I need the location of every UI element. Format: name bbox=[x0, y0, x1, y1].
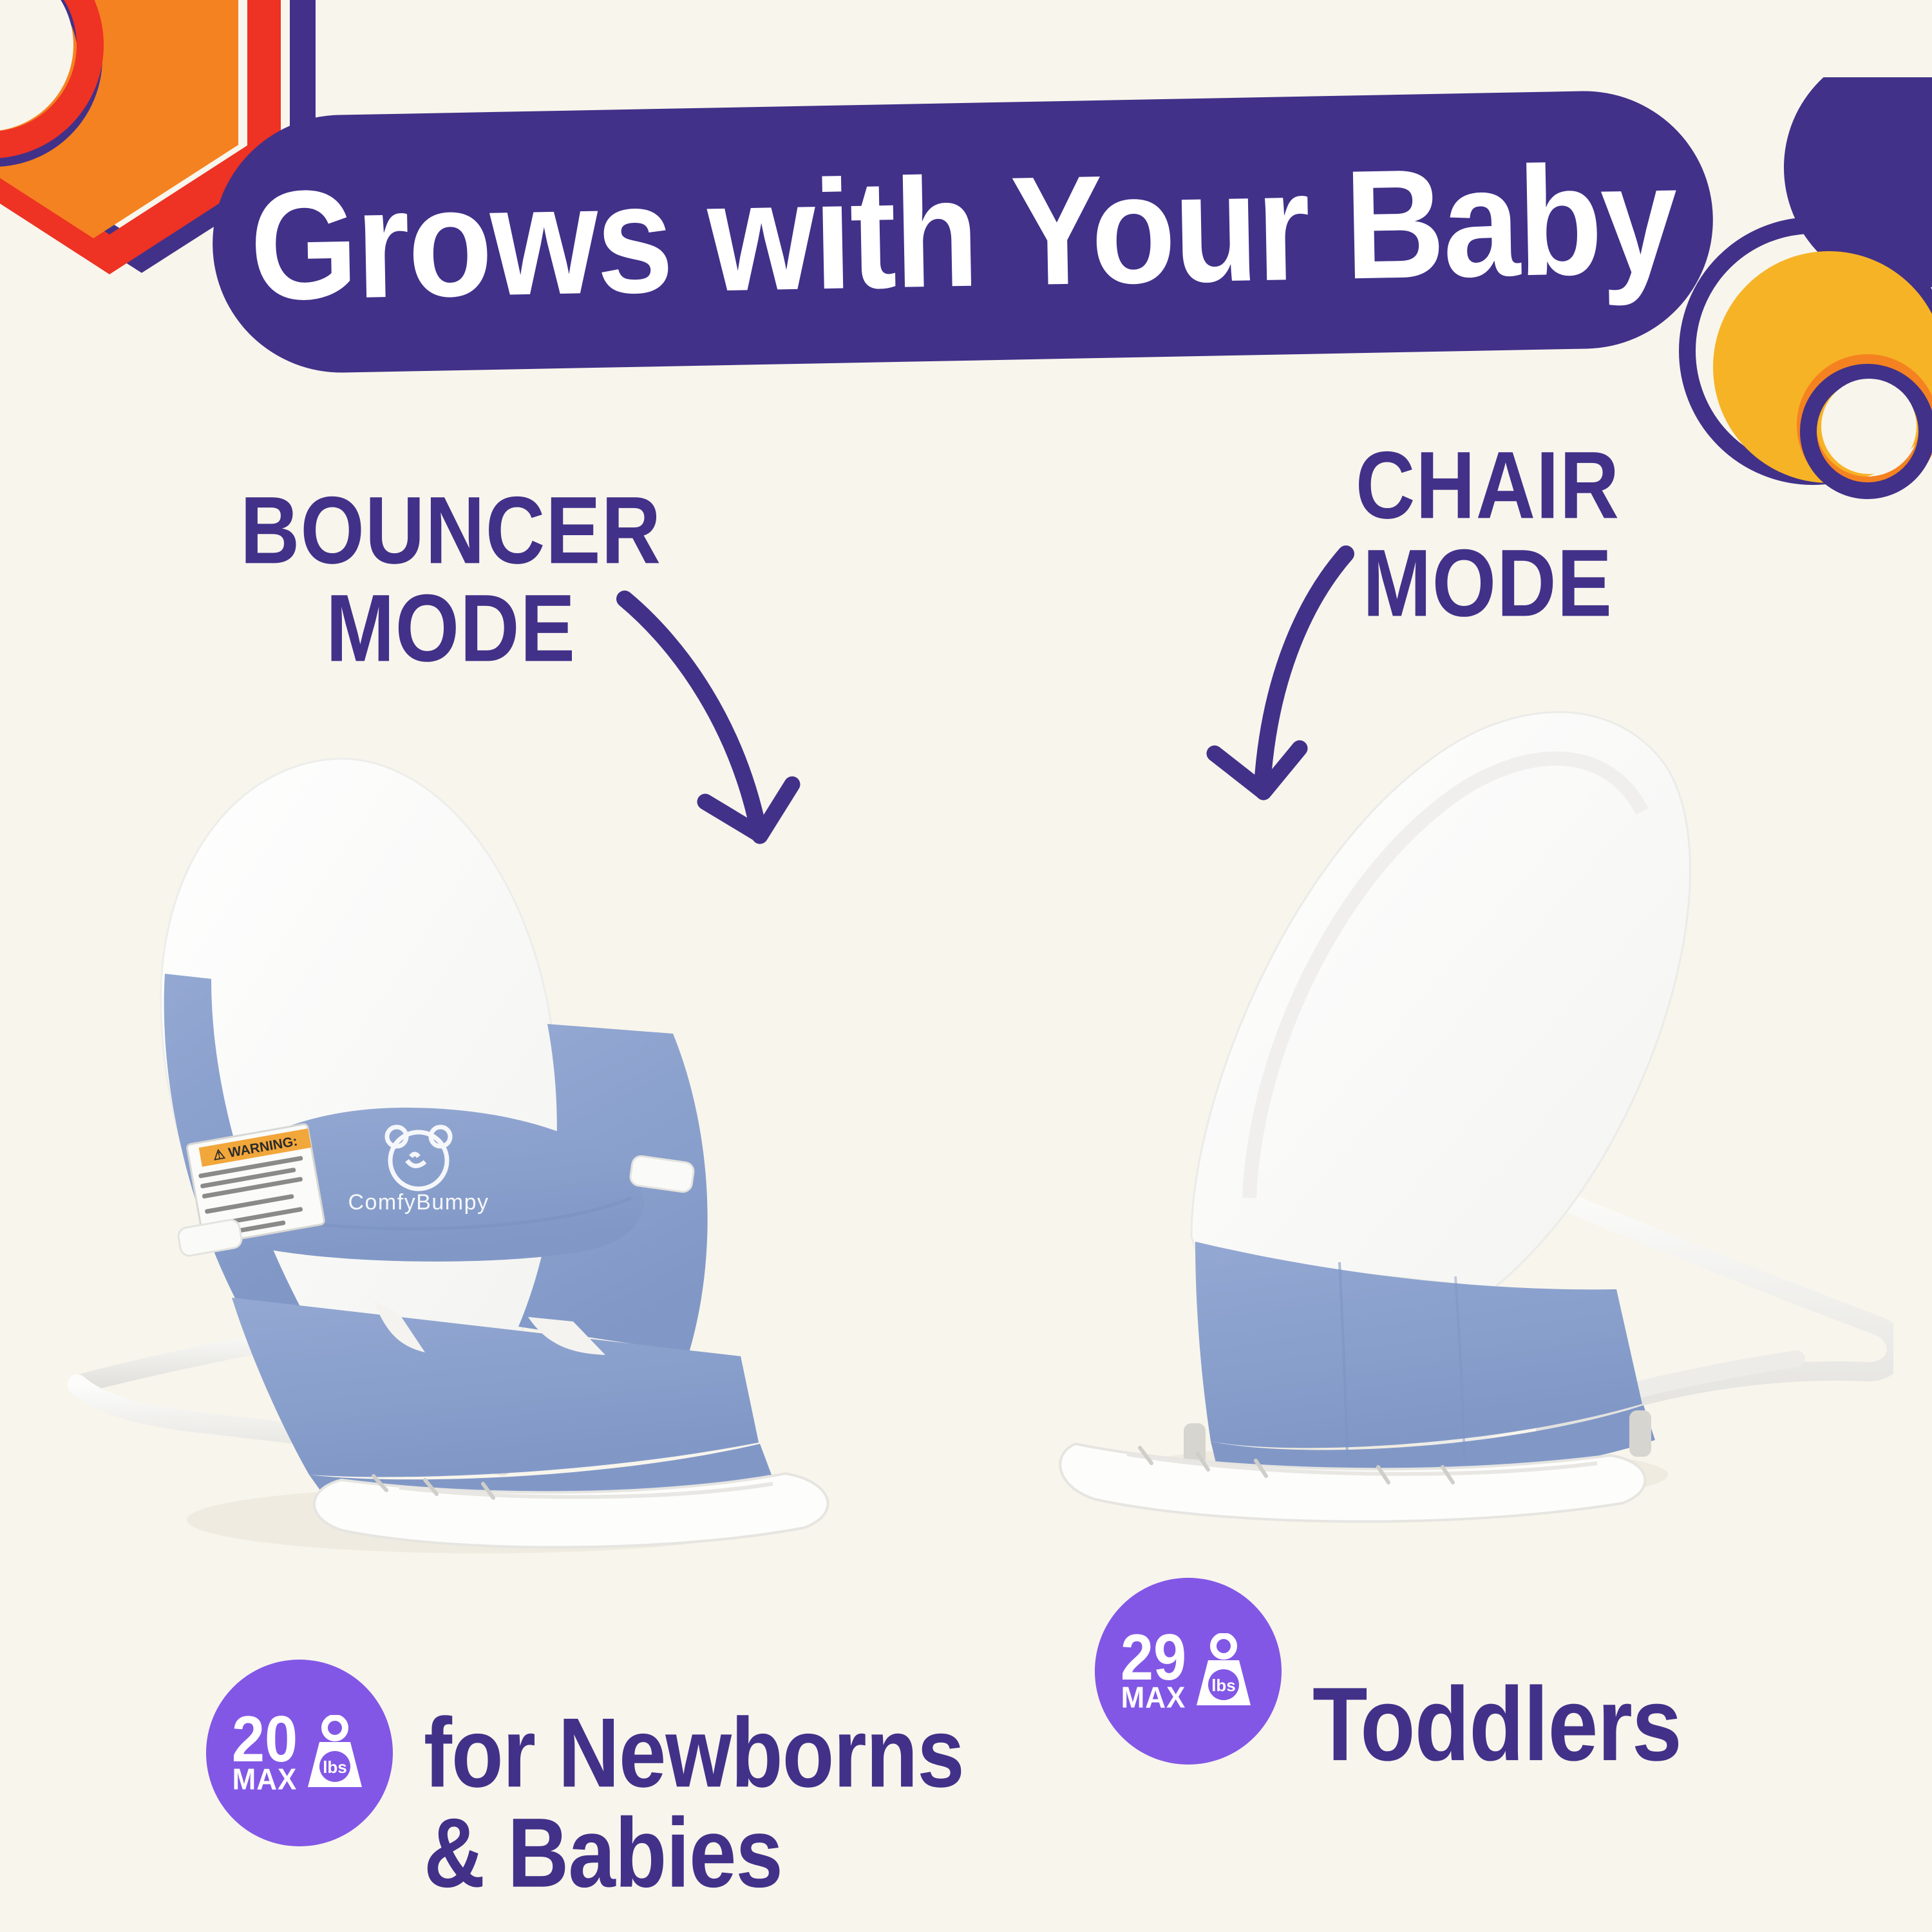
label-bouncer-mode-text: BOUNCERMODE bbox=[240, 477, 661, 681]
weight-badge-20: 20 MAX lbs bbox=[206, 1660, 393, 1846]
weight-max-label: MAX bbox=[232, 1766, 298, 1794]
page-title: Grows with Your Baby bbox=[249, 140, 1677, 323]
header-banner: Grows with Your Baby bbox=[210, 89, 1715, 375]
weight-unit-text: lbs bbox=[323, 1757, 347, 1777]
weight-lbs-icon: lbs bbox=[303, 1715, 367, 1791]
badge-row-newborns: 20 MAX lbs for Newborns& Babies bbox=[206, 1623, 964, 1883]
baby-bouncer-chair-mode bbox=[979, 657, 1893, 1539]
svg-text:ComfyBumpy: ComfyBumpy bbox=[348, 1190, 489, 1215]
weight-lbs-icon: lbs bbox=[1191, 1633, 1256, 1709]
badge-caption-toddlers: Toddlers bbox=[1312, 1564, 1681, 1777]
badge-row-toddlers: 29 MAX lbs Toddlers bbox=[1095, 1578, 1681, 1765]
weight-value: 29 bbox=[1121, 1628, 1186, 1688]
weight-value: 20 bbox=[232, 1710, 298, 1770]
weight-max-label: MAX bbox=[1121, 1685, 1186, 1712]
purple-blob-icon bbox=[1777, 77, 1932, 290]
weight-unit-text: lbs bbox=[1211, 1676, 1236, 1695]
label-chair-mode-text: CHAIRMODE bbox=[1356, 432, 1620, 636]
weight-badge-29: 29 MAX lbs bbox=[1095, 1578, 1282, 1765]
yellow-donut-ring-icon bbox=[1674, 213, 1932, 522]
poster-canvas: Grows with Your Baby BOUNCERMODE CHAIRMO… bbox=[0, 0, 1932, 1932]
baby-bouncer-bouncer-mode: ComfyBumpy ⚠ WARNING: bbox=[39, 683, 953, 1584]
badge-caption-newborns: for Newborns& Babies bbox=[424, 1602, 964, 1904]
